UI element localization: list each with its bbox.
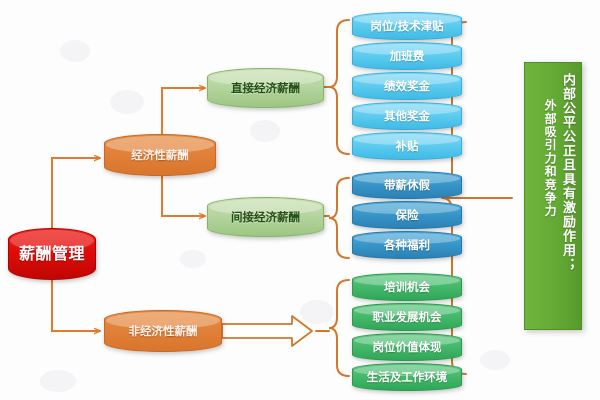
leaf-position-value[interactable]: 岗位价值体现 [352,333,462,361]
node-direct-economic[interactable]: 直接经济薪酬 [207,68,324,108]
watermark-blob [60,40,90,62]
connector-root-to-economic [52,158,100,228]
outcome-panel[interactable]: 内部公平公正且具有激励作用； 外部吸引力和竞争力 [524,62,582,330]
connector-root-to-noneconomic [52,278,100,331]
diagram-canvas: 薪酬管理 经济性薪酬 非经济性薪酬 直接经济薪酬 间接经济薪酬 岗位/技术津贴 … [0,0,600,400]
leaf-label: 岗位价值体现 [373,341,442,353]
leaf-work-environment[interactable]: 生活及工作环境 [352,363,462,391]
leaf-label: 生活及工作环境 [367,371,448,383]
watermark-blob [250,120,280,142]
node-root[interactable]: 薪酬管理 [8,228,96,280]
node-label: 间接经济薪酬 [231,211,300,223]
block-arrow-noneconomic [222,316,312,346]
brace-indirect-items [322,178,349,258]
leaf-training-opportunity[interactable]: 培训机会 [352,273,462,301]
leaf-label: 岗位/技术津贴 [370,20,443,32]
node-label: 经济性薪酬 [131,149,189,161]
leaf-paid-leave[interactable]: 带薪休假 [352,171,462,199]
leaf-label: 带薪休假 [384,179,430,191]
outcome-line-1: 内部公平公正且具有激励作用； [559,73,574,272]
watermark-blob [480,350,510,370]
node-noneconomic-compensation[interactable]: 非经济性薪酬 [104,310,222,352]
brace-noneconomic-items [316,280,349,376]
leaf-label: 其他奖金 [384,110,430,122]
node-label: 非经济性薪酬 [129,325,198,337]
node-economic-compensation[interactable]: 经济性薪酬 [104,134,216,176]
leaf-label: 职业发展机会 [373,311,442,323]
node-label: 直接经济薪酬 [231,82,300,94]
leaf-subsidy[interactable]: 补贴 [352,132,462,160]
outcome-line-2: 外部吸引力和竞争力 [542,73,556,218]
leaf-label: 各种福利 [384,239,430,251]
leaf-career-development[interactable]: 职业发展机会 [352,303,462,331]
leaf-performance-bonus[interactable]: 绩效奖金 [352,72,462,100]
leaf-position-tech-allowance[interactable]: 岗位/技术津贴 [352,12,462,40]
leaf-label: 保险 [396,209,419,221]
leaf-insurance[interactable]: 保险 [352,201,462,229]
watermark-blob [300,300,334,324]
leaf-label: 绩效奖金 [384,80,430,92]
watermark-blob [40,370,76,392]
watermark-blob [110,90,144,114]
connector-economic-to-indirect [162,175,205,216]
leaf-other-bonus[interactable]: 其他奖金 [352,102,462,130]
watermark-blob [180,250,206,268]
node-indirect-economic[interactable]: 间接经济薪酬 [207,197,324,237]
brace-direct-items [322,20,349,154]
leaf-label: 培训机会 [384,281,430,293]
leaf-overtime-pay[interactable]: 加班费 [352,42,462,70]
leaf-label: 加班费 [390,50,425,62]
leaf-benefits[interactable]: 各种福利 [352,231,462,259]
leaf-label: 补贴 [396,140,419,152]
node-root-label: 薪酬管理 [19,246,85,263]
